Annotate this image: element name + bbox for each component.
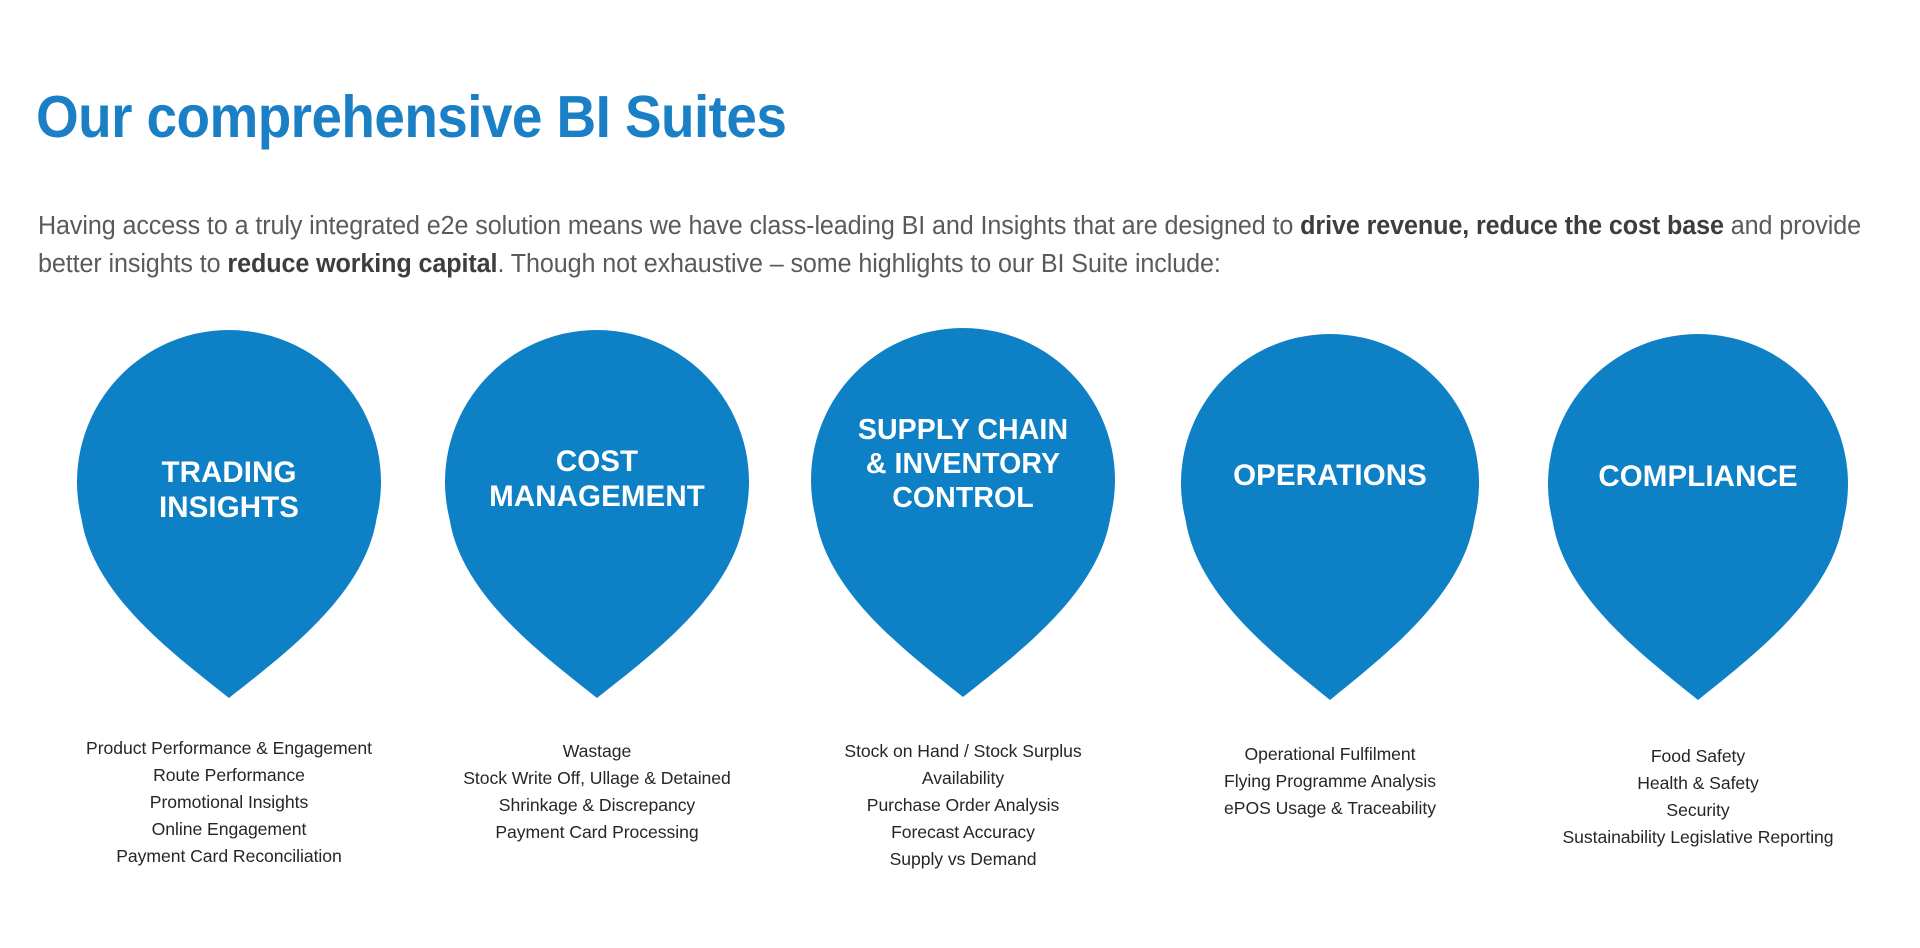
list-item: Online Engagement — [19, 816, 439, 843]
list-item: Health & Safety — [1488, 770, 1908, 797]
intro-text-part1: Having access to a truly integrated e2e … — [38, 212, 1300, 240]
page-title: Our comprehensive BI Suites — [36, 87, 786, 149]
list-item: Stock Write Off, Ullage & Detained — [387, 765, 807, 792]
list-item: Shrinkage & Discrepancy — [387, 792, 807, 819]
intro-bold-drive-revenue: drive revenue, reduce the cost base — [1300, 212, 1724, 240]
map-pin-icon — [811, 328, 1115, 697]
list-item: Forecast Accuracy — [753, 819, 1173, 846]
suite-pin-supply-chain-inventory-control[interactable] — [811, 328, 1115, 697]
list-item: Availability — [753, 765, 1173, 792]
list-item: Payment Card Processing — [387, 819, 807, 846]
list-item: Flying Programme Analysis — [1120, 768, 1540, 795]
slide-canvas: Our comprehensive BI Suites Having acces… — [0, 0, 1920, 948]
list-item: Stock on Hand / Stock Surplus — [753, 738, 1173, 765]
suite-feature-list-trading-insights: Product Performance & EngagementRoute Pe… — [19, 735, 439, 870]
suite-feature-list-supply-chain-inventory-control: Stock on Hand / Stock SurplusAvailabilit… — [753, 738, 1173, 873]
intro-bold-working-capital: reduce working capital — [227, 250, 497, 278]
map-pin-icon — [1181, 334, 1479, 700]
list-item: Sustainability Legislative Reporting — [1488, 824, 1908, 851]
suite-pin-operations[interactable] — [1181, 334, 1479, 700]
map-pin-icon — [445, 330, 749, 698]
list-item: Food Safety — [1488, 743, 1908, 770]
intro-text-part3: . Though not exhaustive – some highlight… — [497, 250, 1220, 278]
list-item: Supply vs Demand — [753, 846, 1173, 873]
list-item: Product Performance & Engagement — [19, 735, 439, 762]
list-item: Promotional Insights — [19, 789, 439, 816]
map-pin-icon — [1548, 334, 1848, 700]
suite-feature-list-cost-management: WastageStock Write Off, Ullage & Detaine… — [387, 738, 807, 846]
map-pin-icon — [77, 330, 381, 698]
list-item: Route Performance — [19, 762, 439, 789]
list-item: Security — [1488, 797, 1908, 824]
list-item: Payment Card Reconciliation — [19, 843, 439, 870]
list-item: Operational Fulfilment — [1120, 741, 1540, 768]
suite-pin-compliance[interactable] — [1548, 334, 1848, 700]
list-item: Wastage — [387, 738, 807, 765]
suite-pin-trading-insights[interactable] — [77, 330, 381, 698]
list-item: Purchase Order Analysis — [753, 792, 1173, 819]
suite-feature-list-compliance: Food SafetyHealth & SafetySecuritySustai… — [1488, 743, 1908, 851]
suite-pin-cost-management[interactable] — [445, 330, 749, 698]
suite-feature-list-operations: Operational FulfilmentFlying Programme A… — [1120, 741, 1540, 822]
list-item: ePOS Usage & Traceability — [1120, 795, 1540, 822]
intro-paragraph: Having access to a truly integrated e2e … — [38, 207, 1862, 283]
